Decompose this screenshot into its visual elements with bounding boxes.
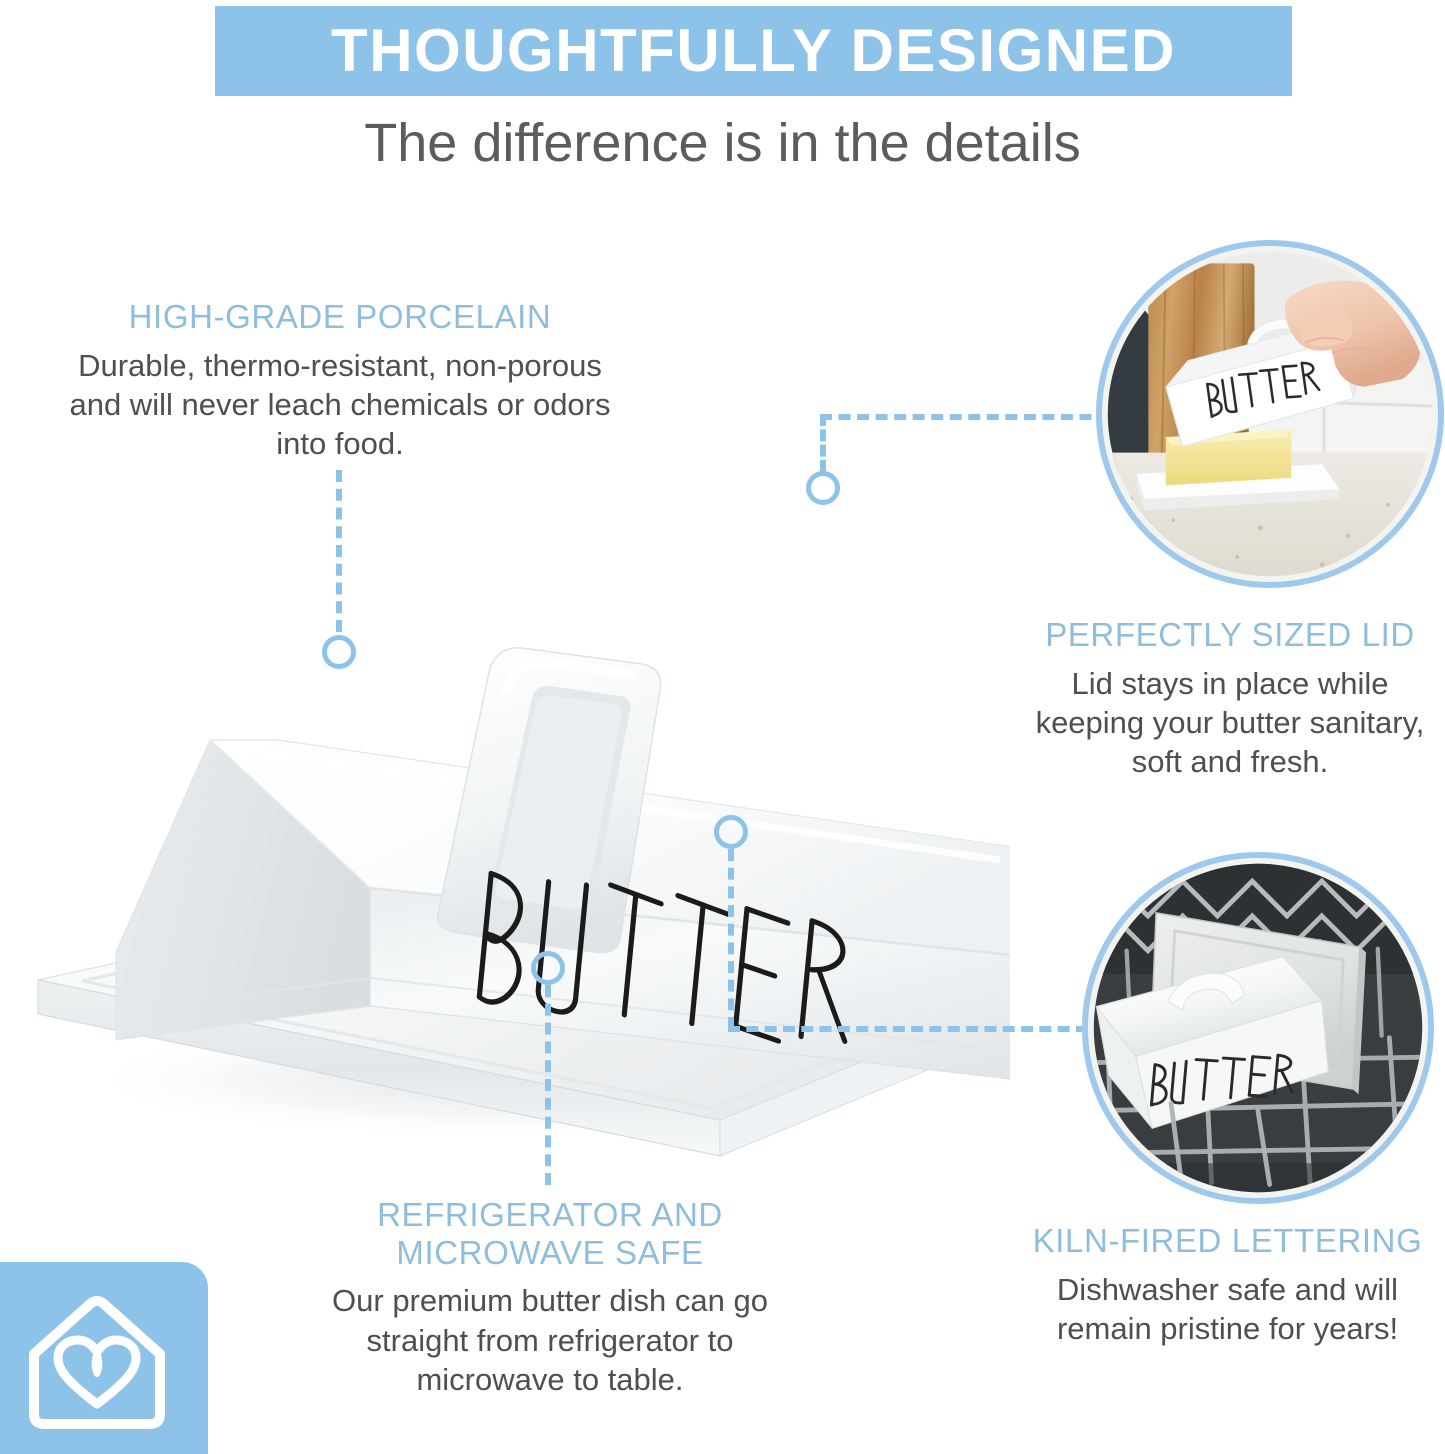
product-image-butter-dish (20, 440, 1010, 1160)
house-heart-icon (34, 1301, 160, 1424)
feature-high-grade-porcelain: HIGH-GRADE PORCELAIN Durable, thermo-res… (60, 298, 620, 464)
photo-lid-removal (1096, 240, 1444, 588)
connector-line-lid-vertical (820, 414, 826, 472)
photo-dishwasher-rack (1082, 852, 1434, 1204)
feature-kiln-fired-lettering: KILN-FIRED LETTERING Dishwasher safe and… (1010, 1222, 1445, 1348)
connector-line-porcelain (336, 470, 342, 632)
connector-line-kiln-vertical (728, 849, 734, 1029)
header-banner: THOUGHTFULLY DESIGNED (215, 6, 1292, 96)
feature-heading-lid: PERFECTLY SIZED LID (1018, 616, 1442, 654)
connector-marker-porcelain (322, 635, 356, 669)
connector-line-kiln-horizontal (728, 1026, 1088, 1032)
connector-line-fridge (545, 985, 551, 1185)
feature-body-porcelain: Durable, thermo-resistant, non-porous an… (60, 346, 620, 464)
connector-marker-kiln (714, 815, 748, 849)
feature-body-kiln: Dishwasher safe and will remain pristine… (1010, 1270, 1445, 1349)
feature-perfectly-sized-lid: PERFECTLY SIZED LID Lid stays in place w… (1018, 616, 1442, 782)
feature-heading-kiln: KILN-FIRED LETTERING (1010, 1222, 1445, 1260)
connector-line-lid-horizontal (820, 414, 1110, 420)
connector-marker-fridge (531, 951, 565, 985)
feature-body-fridge: Our premium butter dish can go straight … (290, 1281, 810, 1399)
feature-refrigerator-microwave-safe: REFRIGERATOR AND MICROWAVE SAFE Our prem… (290, 1196, 810, 1399)
brand-badge (0, 1262, 208, 1454)
page-subtitle: The difference is in the details (0, 112, 1445, 174)
feature-heading-fridge: REFRIGERATOR AND MICROWAVE SAFE (290, 1196, 810, 1271)
banner-title: THOUGHTFULLY DESIGNED (331, 21, 1176, 81)
infographic-page: THOUGHTFULLY DESIGNED The difference is … (0, 0, 1445, 1454)
connector-marker-lid (806, 471, 840, 505)
feature-heading-porcelain: HIGH-GRADE PORCELAIN (60, 298, 620, 336)
feature-body-lid: Lid stays in place while keeping your bu… (1018, 664, 1442, 782)
